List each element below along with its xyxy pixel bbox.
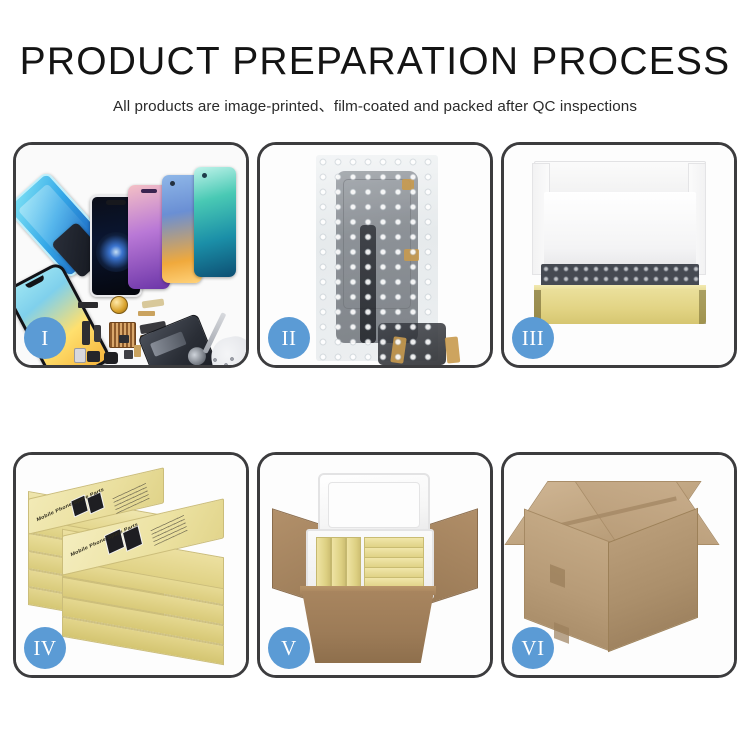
step-panel-6[interactable]: VI <box>501 452 737 678</box>
chip-part-2-icon <box>134 345 141 357</box>
flex-cable-1-icon <box>82 321 90 345</box>
bubble-wrap-bag-icon <box>316 155 438 361</box>
step-badge-3: III <box>512 317 554 359</box>
chip-part-4-icon <box>119 335 129 343</box>
step-panel-4[interactable]: Mobile Phone Spare Parts Mobile Phone Sp… <box>13 452 249 678</box>
bubble-texture-icon <box>316 155 438 361</box>
header: PRODUCT PREPARATION PROCESS All products… <box>0 0 750 116</box>
step-badge-4: IV <box>24 627 66 669</box>
step-panel-2[interactable]: II <box>257 142 493 368</box>
spare-part-bar-3-icon <box>138 311 155 316</box>
step-badge-6: VI <box>512 627 554 669</box>
step-badge-2: II <box>268 317 310 359</box>
kraft-box-front-icon <box>534 290 706 324</box>
step-badge-1: I <box>24 317 66 359</box>
carton-front-icon <box>302 591 434 663</box>
flex-cable-2-icon <box>94 325 101 342</box>
page-title: PRODUCT PREPARATION PROCESS <box>0 0 750 81</box>
camera-module-icon <box>87 351 100 362</box>
white-foam-sheet-icon <box>544 192 696 267</box>
product-preparation-infographic: PRODUCT PREPARATION PROCESS All products… <box>0 0 750 750</box>
page-subtitle: All products are image-printed、film-coat… <box>0 81 750 116</box>
step-panel-5[interactable]: V <box>257 452 493 678</box>
step-panel-3[interactable]: III <box>501 142 737 368</box>
chip-part-1-icon <box>124 350 133 359</box>
coil-part-icon <box>110 296 128 314</box>
step-badge-5: V <box>268 627 310 669</box>
screws-icon <box>212 357 236 365</box>
step-panel-1[interactable]: I <box>13 142 249 368</box>
tape-piece-4-icon <box>445 336 461 363</box>
spare-part-bar-1-icon <box>78 302 98 308</box>
phone-teal-icon <box>194 167 236 277</box>
speaker-module-icon <box>104 352 118 364</box>
process-steps-grid: I II <box>13 142 737 687</box>
yellow-boxes-inside-icon <box>316 537 424 587</box>
chip-part-3-icon <box>74 348 86 363</box>
